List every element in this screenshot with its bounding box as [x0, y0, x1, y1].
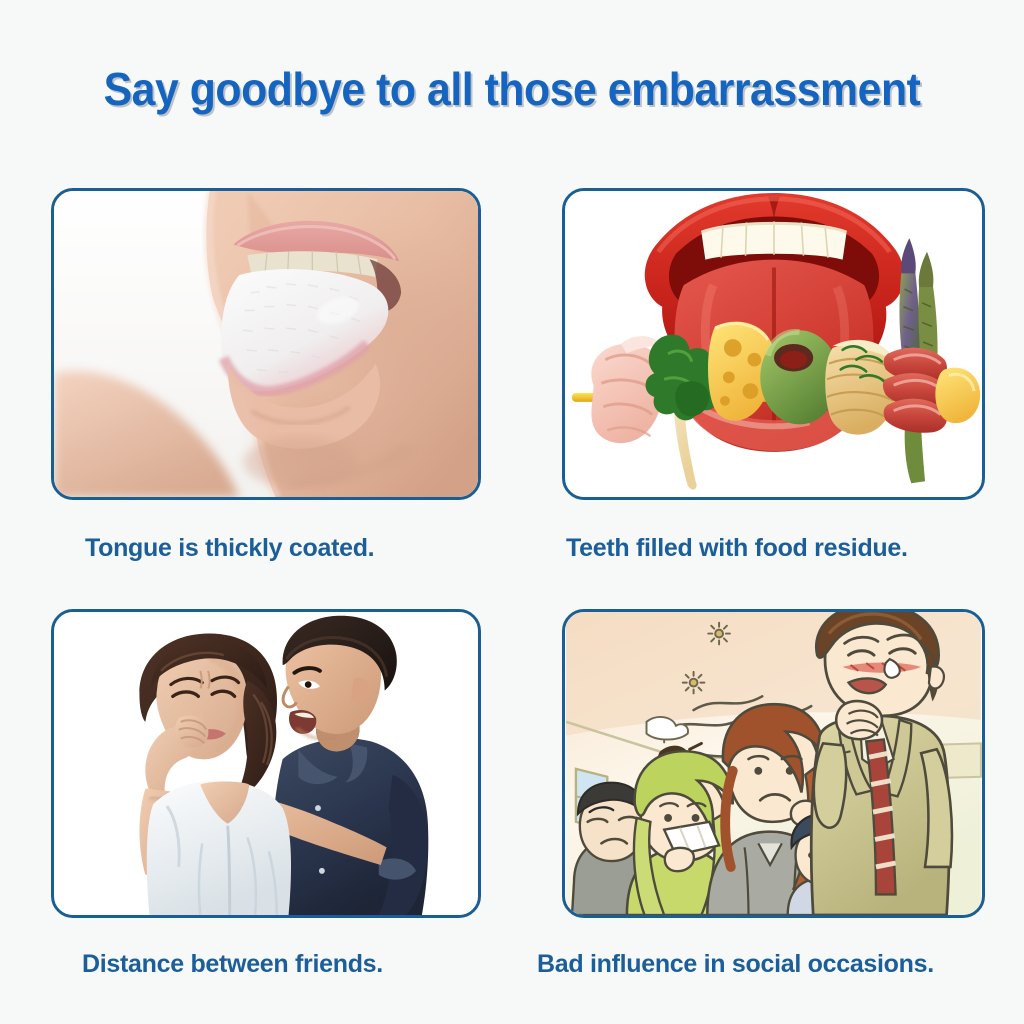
cartoon-office-bad-breath	[565, 612, 982, 915]
page-title: Say goodbye to all those embarrassment	[36, 62, 988, 116]
caption-tongue-coated: Tongue is thickly coated.	[85, 534, 374, 563]
illustration-mouth-food-skewer	[565, 191, 982, 497]
caption-food-residue: Teeth filled with food residue.	[566, 534, 908, 563]
card-social-occasions	[562, 609, 985, 918]
caption-social-occasions: Bad influence in social occasions.	[537, 950, 934, 979]
caption-distance-friends: Distance between friends.	[82, 950, 383, 979]
card-distance-friends	[51, 609, 481, 918]
card-food-residue	[562, 188, 985, 500]
photo-couple-bad-breath	[54, 612, 478, 915]
photo-woman-coated-tongue	[54, 191, 478, 497]
card-tongue-coated	[51, 188, 481, 500]
